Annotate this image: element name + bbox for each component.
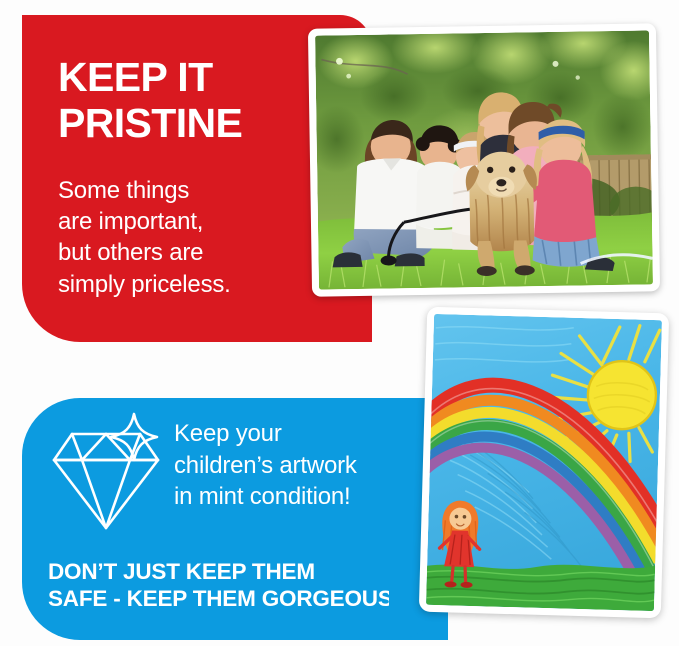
blue-body-line-2: children’s artwork [174,450,436,482]
artwork-image [426,314,662,611]
family-with-golden-retriever-photo [308,23,660,296]
blue-body-line-1: Keep your [174,418,436,450]
childrens-rainbow-crayon-drawing [419,307,669,619]
family-photo-image [315,30,653,289]
blue-message-panel: Keep your children’s artwork in mint con… [22,398,448,640]
blue-body-line-3: in mint condition! [174,481,436,513]
cta-line-1: DON’T JUST KEEP THEM [48,558,448,585]
cta-line-2: SAFE - KEEP THEM GORGEOUS! [48,585,448,612]
blue-panel-cta: DON’T JUST KEEP THEM SAFE - KEEP THEM GO… [48,558,448,613]
poster-canvas: KEEP IT PRISTINE Some things are importa… [0,0,679,646]
diamond-sparkle-icon [46,412,166,537]
blue-panel-body: Keep your children’s artwork in mint con… [174,418,436,513]
